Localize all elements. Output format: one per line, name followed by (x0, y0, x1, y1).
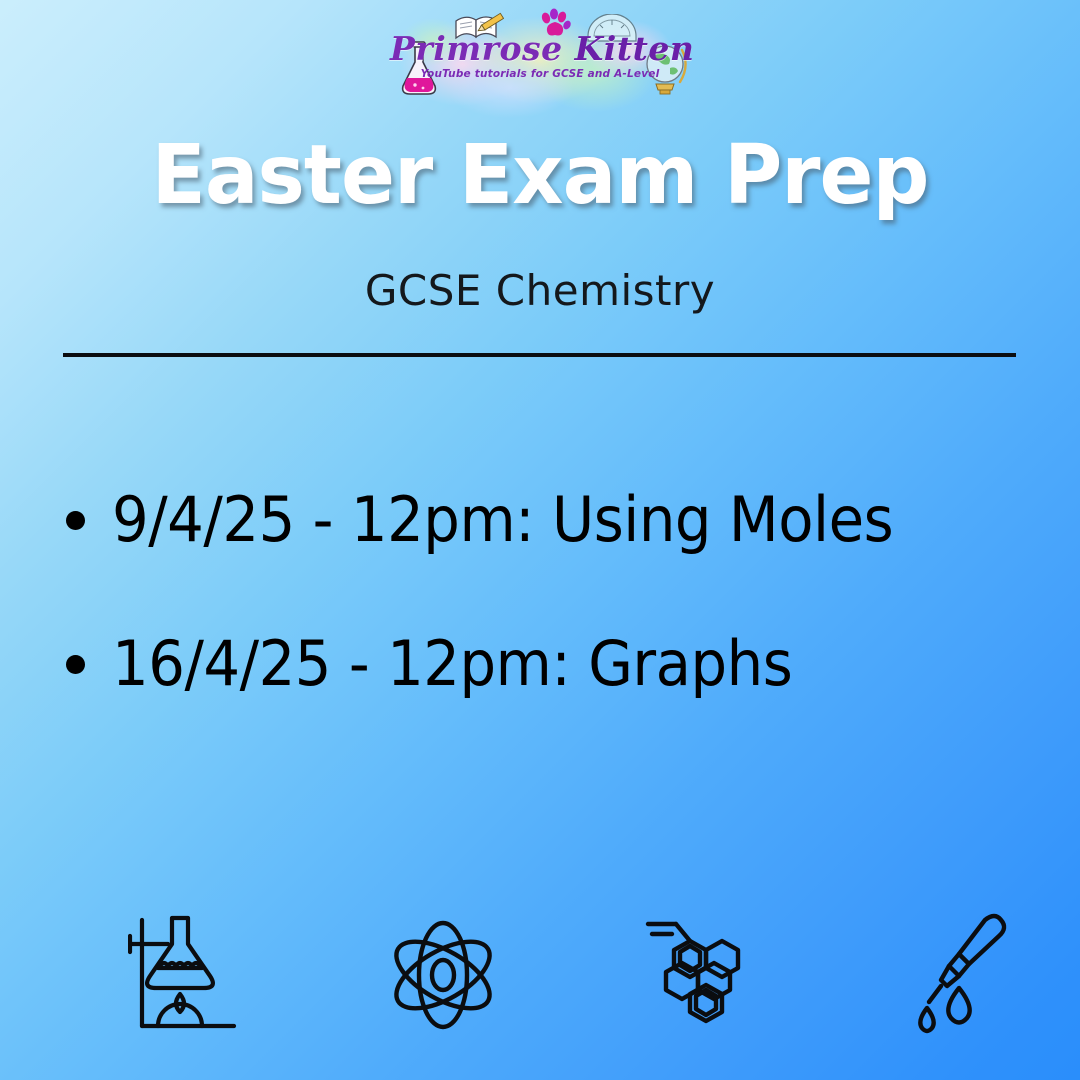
schedule-item-label: 16/4/25 - 12pm: Graphs (112, 628, 792, 700)
benzene-rings-icon (638, 910, 758, 1040)
list-item: 9/4/25 - 12pm: Using Moles (0, 470, 1080, 570)
pipette-dropper-icon (893, 910, 1013, 1040)
flask-over-bunsen-burner-icon (128, 910, 248, 1040)
footer-icon-cell (825, 900, 1080, 1050)
schedule-item-label: 9/4/25 - 12pm: Using Moles (112, 484, 893, 556)
footer-icon-cell (315, 900, 570, 1050)
brand-logo: Primrose Kitten YouTube tutorials for GC… (390, 2, 690, 120)
schedule-list: 9/4/25 - 12pm: Using Moles 16/4/25 - 12p… (0, 470, 1080, 714)
poster-canvas: Primrose Kitten YouTube tutorials for GC… (0, 0, 1080, 1080)
page-title: Easter Exam Prep (16, 128, 1064, 224)
brand-name-kitten: Kitten (575, 29, 695, 68)
bullet-dot-icon (66, 655, 85, 674)
horizontal-divider (63, 353, 1016, 357)
list-item: 16/4/25 - 12pm: Graphs (0, 614, 1080, 714)
logo-text-block: Primrose Kitten YouTube tutorials for GC… (390, 32, 690, 81)
atom-icon (383, 910, 503, 1040)
footer-icon-cell (570, 900, 825, 1050)
page-subtitle: GCSE Chemistry (0, 264, 1080, 318)
brand-name: Primrose Kitten (390, 32, 690, 66)
brand-name-primrose: Primrose (390, 29, 575, 68)
brand-tagline: YouTube tutorials for GCSE and A-Level (390, 68, 690, 81)
bullet-dot-icon (66, 511, 85, 530)
footer-icon-cell (60, 900, 315, 1050)
footer-icon-row (60, 900, 1080, 1050)
